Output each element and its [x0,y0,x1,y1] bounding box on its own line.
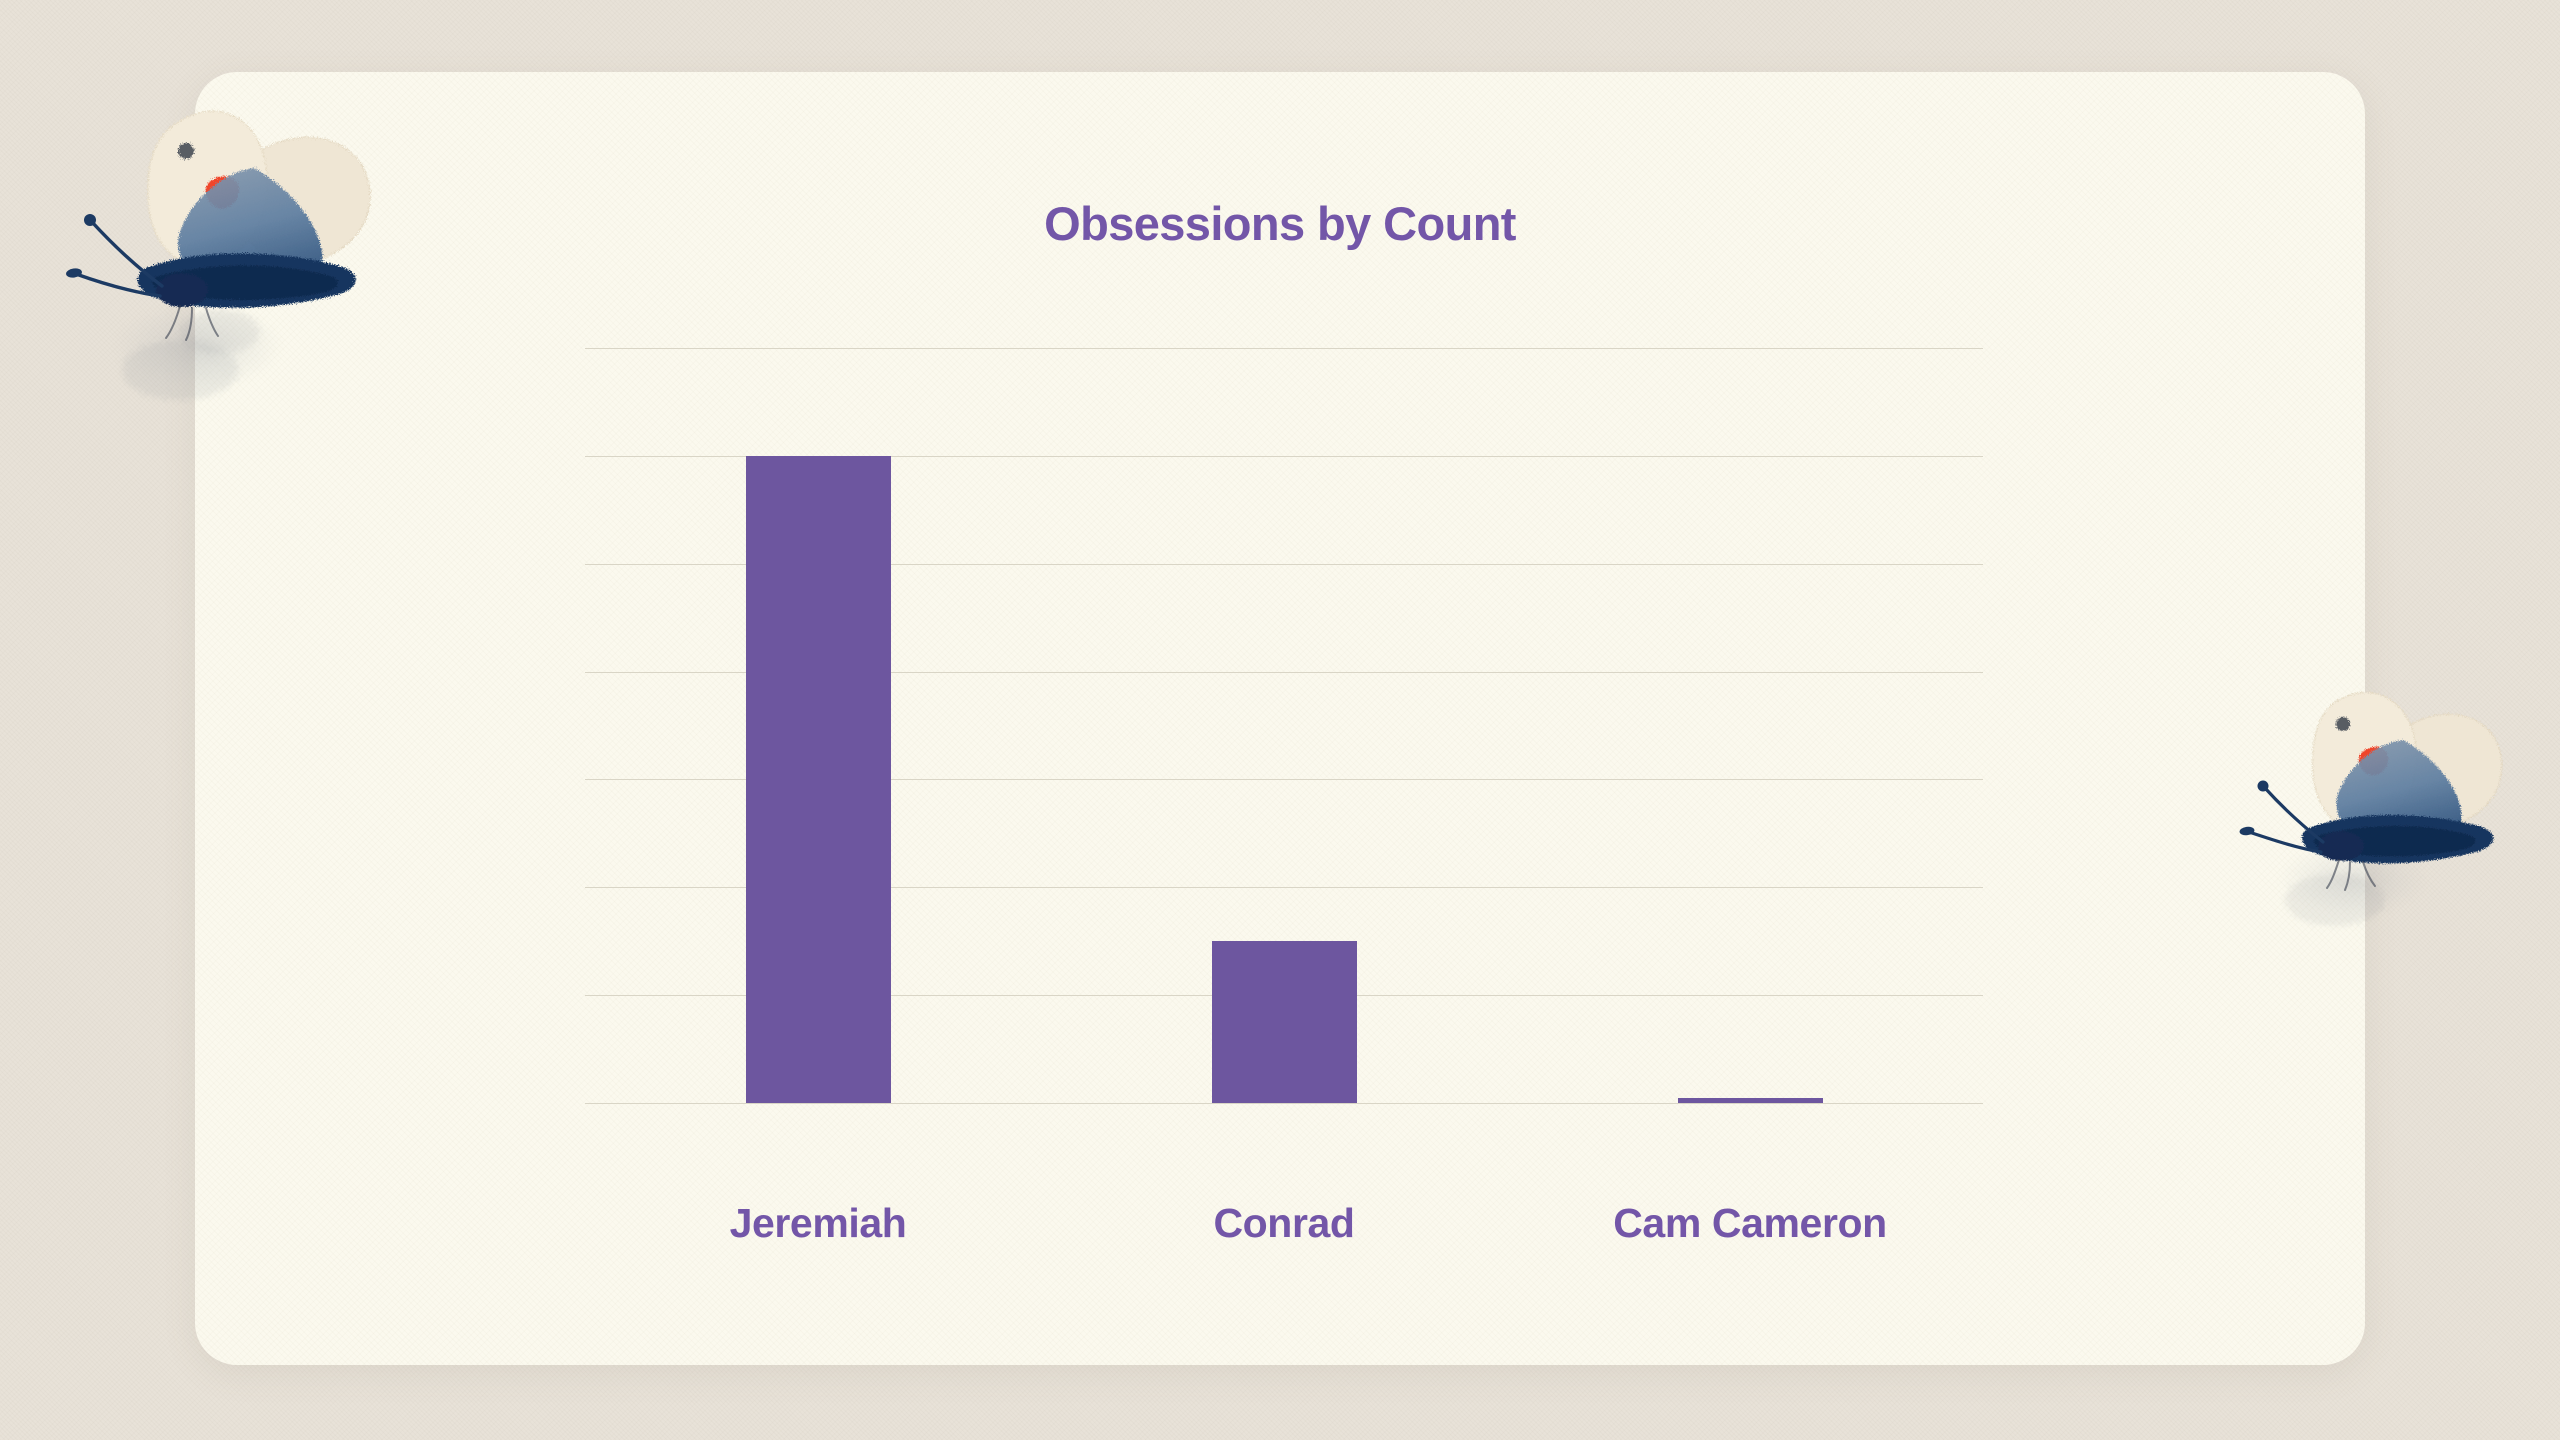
chart-bar[interactable] [1678,1098,1823,1103]
chart-bar[interactable] [746,456,891,1103]
chart-x-axis-labels: JeremiahConradCam Cameron [585,1200,1983,1270]
chart-axis-baseline [585,1103,1983,1104]
screenshot-root: Obsessions by Count JeremiahConradCam Ca… [0,0,2560,1440]
chart-x-tick-label: Jeremiah [730,1200,907,1247]
chart-bars [585,348,1983,1103]
chart-bar[interactable] [1212,941,1357,1103]
page-title: Obsessions by Count [0,196,2560,251]
chart-x-tick-label: Cam Cameron [1613,1200,1887,1247]
chart-plot-area [585,348,1983,1103]
chart-x-tick-label: Conrad [1213,1200,1354,1247]
